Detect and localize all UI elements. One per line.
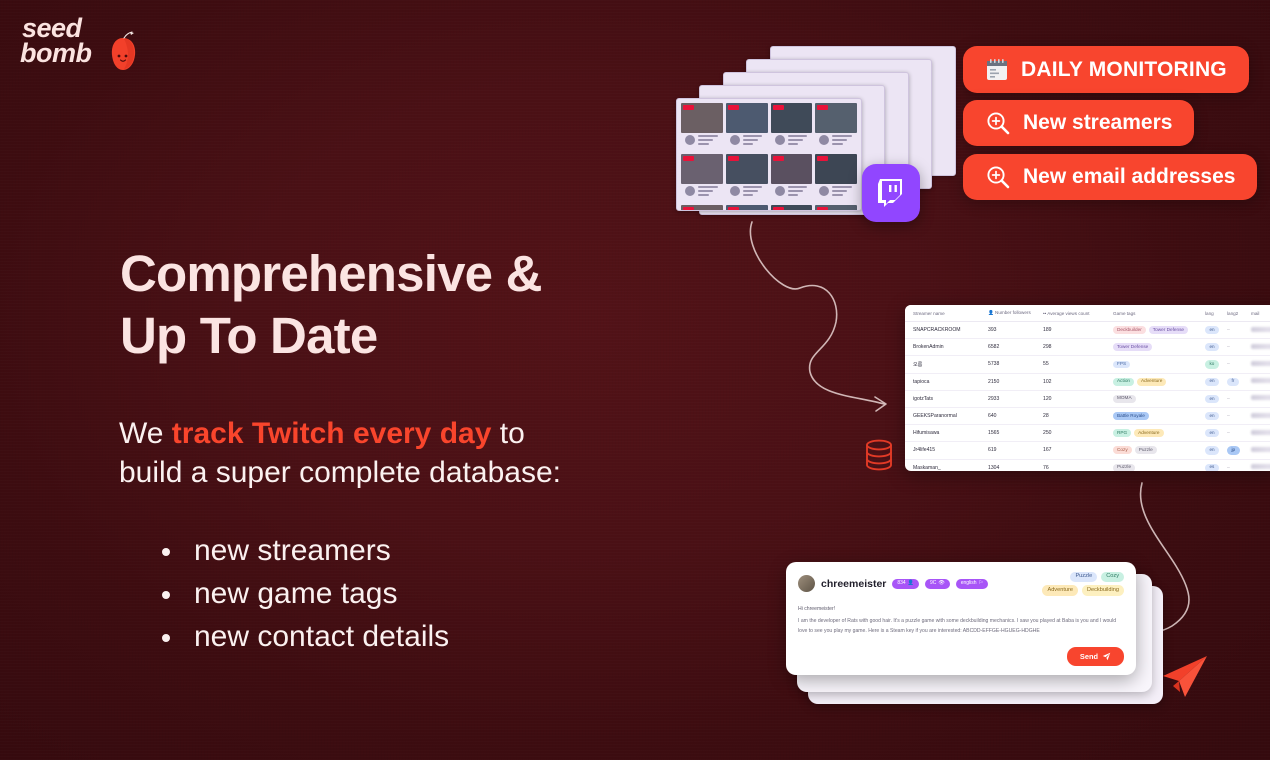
empty-value: –: [1227, 396, 1230, 402]
avatar: [730, 186, 740, 196]
outreach-message-stack: chreemeister 834 👤 9C 👁 english ⚐ Puzzle…: [786, 562, 1166, 707]
cell-streamer-name: BrokenAdmin: [905, 339, 985, 356]
streamer-database-table[interactable]: Streamer name 👤 Number followers •• Aver…: [905, 305, 1270, 471]
tag-chip: Tower Defense: [1113, 343, 1152, 351]
live-badge: [683, 105, 694, 110]
tag-chip: Deckbuilding: [1082, 585, 1124, 595]
cell-followers: 1565: [985, 425, 1040, 442]
lang-chip: en: [1205, 378, 1219, 386]
hero-body-highlight: track Twitch every day: [172, 417, 492, 450]
cell-mail: [1248, 442, 1270, 459]
lang-chip: en: [1205, 446, 1219, 454]
cell-views: 167: [1040, 442, 1110, 459]
table-row[interactable]: igotzTats2933120MOMAen–: [905, 390, 1270, 407]
cell-followers: 5738: [985, 356, 1040, 373]
table-row[interactable]: Jr4life415619167CozyPuzzleenjp: [905, 442, 1270, 459]
table-row[interactable]: GEEKSParanormal64028Battle Royaleen–: [905, 407, 1270, 424]
message-greeting: Hi chreemeister!: [798, 605, 1124, 615]
cell-streamer-name: Hifumisawa: [905, 425, 985, 442]
avatar: [775, 135, 785, 145]
cell-game-tags: ActionAdventure: [1110, 373, 1202, 390]
avatar: [819, 135, 829, 145]
table-row[interactable]: tapioca2150102ActionAdventureenfr: [905, 373, 1270, 390]
stream-thumbnail-cell: [726, 205, 768, 211]
cell-streamer-name: Jr4life415: [905, 442, 985, 459]
cell-views: 28: [1040, 407, 1110, 424]
empty-value: –: [1227, 327, 1230, 333]
column-header-label: Average views count: [1047, 311, 1089, 316]
tag-chip: Tower Defense: [1149, 326, 1188, 334]
live-badge: [817, 105, 828, 110]
column-header-label: Number followers: [995, 310, 1031, 315]
cell-game-tags: DeckbuilderTower Defense: [1110, 322, 1202, 339]
cell-followers: 1304: [985, 459, 1040, 471]
redacted-email: [1251, 361, 1270, 366]
tag-chip: Puzzle: [1113, 464, 1135, 471]
cell-mail: [1248, 459, 1270, 471]
message-card[interactable]: chreemeister 834 👤 9C 👁 english ⚐ Puzzle…: [786, 562, 1136, 675]
table-header-row: Streamer name 👤 Number followers •• Aver…: [905, 305, 1270, 322]
tag-chip: Puzzle: [1135, 446, 1157, 454]
twitch-logo: [862, 164, 920, 222]
stream-thumbnail-cell: [815, 205, 857, 211]
cell-views: 120: [1040, 390, 1110, 407]
redacted-email: [1251, 395, 1270, 400]
tag-chip: Adventure: [1134, 429, 1163, 437]
redacted-email: [1251, 464, 1270, 469]
redacted-email: [1251, 430, 1270, 435]
cell-mail: [1248, 356, 1270, 373]
cell-views: 298: [1040, 339, 1110, 356]
lang-chip: ko: [1205, 360, 1219, 368]
magnifier-plus-icon: [985, 110, 1011, 136]
live-badge: [817, 207, 828, 211]
tag-chip: Cozy: [1113, 446, 1132, 454]
streamer-username: chreemeister: [821, 578, 886, 590]
stream-thumbnail-cell: [771, 103, 813, 151]
cell-followers: 640: [985, 407, 1040, 424]
brand-logo[interactable]: seed bomb: [20, 16, 210, 78]
cell-mail: [1248, 407, 1270, 424]
send-button[interactable]: Send: [1067, 647, 1124, 666]
curved-arrow-1: [750, 222, 884, 404]
cell-lang: en: [1202, 390, 1224, 407]
cell-streamer-name: 오름: [905, 356, 985, 373]
avatar: [775, 186, 785, 196]
cell-lang2: –: [1224, 322, 1248, 339]
stream-thumbnail-cell: [771, 205, 813, 211]
cell-game-tags: Puzzle: [1110, 459, 1202, 471]
stream-thumbnail-cell: [815, 103, 857, 151]
cell-streamer-name: tapioca: [905, 373, 985, 390]
list-item: new streamers: [150, 531, 610, 570]
cell-mail: [1248, 425, 1270, 442]
column-header-game-tags[interactable]: Game tags: [1110, 305, 1202, 322]
column-header-followers[interactable]: 👤 Number followers: [985, 305, 1040, 322]
tag-chip: Action: [1113, 378, 1134, 386]
column-header-streamer-name[interactable]: Streamer name: [905, 305, 985, 322]
cell-lang: en: [1202, 425, 1224, 442]
redacted-email: [1251, 327, 1270, 332]
cell-game-tags: MOMA: [1110, 390, 1202, 407]
badge-label: New streamers: [1023, 111, 1172, 135]
magnifier-plus-icon: [985, 164, 1011, 190]
cell-lang2: –: [1224, 425, 1248, 442]
cell-lang: es: [1202, 459, 1224, 471]
stream-thumbnail-cell: [726, 154, 768, 202]
live-badge: [728, 207, 739, 211]
redacted-email: [1251, 378, 1270, 383]
avatar: [798, 575, 815, 592]
paper-plane-icon: [1102, 652, 1111, 661]
cell-followers: 2150: [985, 373, 1040, 390]
language-pill: english ⚐: [956, 579, 988, 589]
live-badge: [728, 105, 739, 110]
lang-chip: en: [1205, 412, 1219, 420]
list-item: new contact details: [150, 617, 610, 656]
cell-lang: en: [1202, 322, 1224, 339]
collage-sheet-front: [676, 98, 862, 211]
cell-followers: 393: [985, 322, 1040, 339]
badge-label: New email addresses: [1023, 165, 1235, 189]
headline-line-1: Comprehensive &: [120, 243, 542, 305]
column-header-views[interactable]: •• Average views count: [1040, 305, 1110, 322]
cell-lang: en: [1202, 373, 1224, 390]
message-text: I am the developer of Rats with good hai…: [798, 618, 1116, 634]
badge-daily-monitoring[interactable]: DAILY MONITORING: [963, 46, 1249, 93]
cell-streamer-name: SNAPCRACKROOM: [905, 322, 985, 339]
empty-value: –: [1227, 465, 1230, 471]
empty-value: –: [1227, 430, 1230, 436]
cell-mail: [1248, 390, 1270, 407]
table-row[interactable]: Hifumisawa1565250RPGAdventureen–: [905, 425, 1270, 442]
cell-streamer-name: Maskaman_: [905, 459, 985, 471]
headline-line-2: Up To Date: [120, 305, 542, 367]
followers-pill-value: 834: [897, 581, 905, 586]
page-title: Comprehensive & Up To Date: [120, 243, 542, 366]
tag-chip: RPG: [1113, 429, 1131, 437]
cell-followers: 2933: [985, 390, 1040, 407]
cell-followers: 619: [985, 442, 1040, 459]
redacted-email: [1251, 413, 1270, 418]
cell-views: 102: [1040, 373, 1110, 390]
badge-new-streamers[interactable]: New streamers: [963, 100, 1194, 146]
followers-pill: 834 👤: [892, 579, 919, 589]
cell-lang: ko: [1202, 356, 1224, 373]
avatar: [685, 135, 695, 145]
stream-thumbnail-cell: [681, 103, 723, 151]
person-icon: 👤: [988, 310, 994, 315]
views-pill-value: 9C: [930, 581, 936, 586]
hero-body-text: We track Twitch every day to build a sup…: [119, 414, 589, 493]
hero-body-pre: We: [119, 417, 172, 450]
paper-plane-icon: [1159, 652, 1211, 704]
lang-chip: es: [1205, 464, 1219, 472]
empty-value: –: [1227, 413, 1230, 419]
table-row[interactable]: Maskaman_130476Puzzlees–: [905, 459, 1270, 471]
message-body[interactable]: Hi chreemeister! I am the developer of R…: [798, 605, 1124, 637]
cell-game-tags: RPGAdventure: [1110, 425, 1202, 442]
stream-thumbnail-cell: [726, 103, 768, 151]
database-icon: [861, 437, 897, 473]
cell-lang2: –: [1224, 356, 1248, 373]
cell-game-tags: FPS: [1110, 356, 1202, 373]
hero-bullet-list: new streamers new game tags new contact …: [150, 531, 610, 660]
cell-game-tags: Battle Royale: [1110, 407, 1202, 424]
lang-chip: fr: [1227, 378, 1239, 386]
badge-new-email-addresses[interactable]: New email addresses: [963, 154, 1257, 200]
cell-game-tags: Tower Defense: [1110, 339, 1202, 356]
avatar: [685, 186, 695, 196]
lang-chip: en: [1205, 429, 1219, 437]
lang-chip: en: [1205, 343, 1219, 351]
avatar: [730, 135, 740, 145]
avatar: [819, 186, 829, 196]
live-badge: [728, 156, 739, 161]
calendar-icon: [985, 58, 1009, 82]
eye-icon: ••: [1043, 311, 1046, 316]
redacted-email: [1251, 344, 1270, 349]
table-row[interactable]: BrokenAdmin6582298Tower Defenseen–: [905, 339, 1270, 356]
tag-chip: Deckbuilder: [1113, 326, 1146, 334]
tag-chip: Battle Royale: [1113, 412, 1149, 420]
cell-mail: [1248, 373, 1270, 390]
cell-lang2: –: [1224, 390, 1248, 407]
live-badge: [683, 156, 694, 161]
lang-chip: en: [1205, 326, 1219, 334]
empty-value: –: [1227, 344, 1230, 350]
badge-label: DAILY MONITORING: [1021, 58, 1227, 82]
cell-mail: [1248, 339, 1270, 356]
language-pill-value: english: [961, 581, 977, 586]
cell-lang2: –: [1224, 339, 1248, 356]
person-icon: 👤: [908, 581, 914, 586]
views-pill: 9C 👁: [925, 579, 950, 589]
cell-lang: en: [1202, 339, 1224, 356]
table-row[interactable]: 오름573855FPSko–: [905, 356, 1270, 373]
column-header-mail[interactable]: mail: [1248, 305, 1270, 322]
live-badge: [773, 105, 784, 110]
live-badge: [683, 207, 694, 211]
cell-game-tags: CozyPuzzle: [1110, 442, 1202, 459]
list-item: new game tags: [150, 574, 610, 613]
tag-chip: Adventure: [1042, 585, 1078, 595]
tag-chip: Puzzle: [1070, 572, 1097, 582]
cell-lang2: fr: [1224, 373, 1248, 390]
tag-chip: Adventure: [1137, 378, 1166, 386]
cell-views: 250: [1040, 425, 1110, 442]
stream-thumbnail-cell: [681, 154, 723, 202]
redacted-email: [1251, 447, 1270, 452]
message-game-tags: Puzzle Cozy Adventure Deckbuilding: [1042, 572, 1124, 596]
twitch-glyph-icon: [876, 177, 906, 209]
live-badge: [773, 156, 784, 161]
stream-thumbnail-cell: [771, 154, 813, 202]
cell-streamer-name: GEEKSParanormal: [905, 407, 985, 424]
column-header-lang[interactable]: lang: [1202, 305, 1224, 322]
table-row[interactable]: SNAPCRACKROOM393189DeckbuilderTower Defe…: [905, 322, 1270, 339]
message-header: chreemeister 834 👤 9C 👁 english ⚐ Puzzle…: [798, 572, 1124, 596]
tag-chip: MOMA: [1113, 395, 1136, 403]
cell-lang2: –: [1224, 459, 1248, 471]
tag-chip: FPS: [1113, 361, 1130, 369]
stream-thumbnail-cell: [815, 154, 857, 202]
live-badge: [817, 156, 828, 161]
cell-lang2: jp: [1224, 442, 1248, 459]
lang-chip: jp: [1227, 446, 1240, 454]
seed-bomb-mascot-icon: [108, 30, 138, 74]
column-header-lang2[interactable]: lang2: [1224, 305, 1248, 322]
cell-mail: [1248, 322, 1270, 339]
eye-icon: 👁: [938, 581, 944, 586]
lang-chip: en: [1205, 395, 1219, 403]
cell-streamer-name: igotzTats: [905, 390, 985, 407]
live-badge: [773, 207, 784, 211]
cell-views: 76: [1040, 459, 1110, 471]
empty-value: –: [1227, 361, 1230, 367]
stream-thumbnail-cell: [681, 205, 723, 211]
send-button-label: Send: [1080, 652, 1098, 661]
flag-icon: ⚐: [979, 581, 983, 586]
cell-followers: 6582: [985, 339, 1040, 356]
cell-lang: en: [1202, 407, 1224, 424]
cell-lang2: –: [1224, 407, 1248, 424]
cell-lang: en: [1202, 442, 1224, 459]
tag-chip: Cozy: [1101, 572, 1124, 582]
cell-views: 189: [1040, 322, 1110, 339]
cell-views: 55: [1040, 356, 1110, 373]
